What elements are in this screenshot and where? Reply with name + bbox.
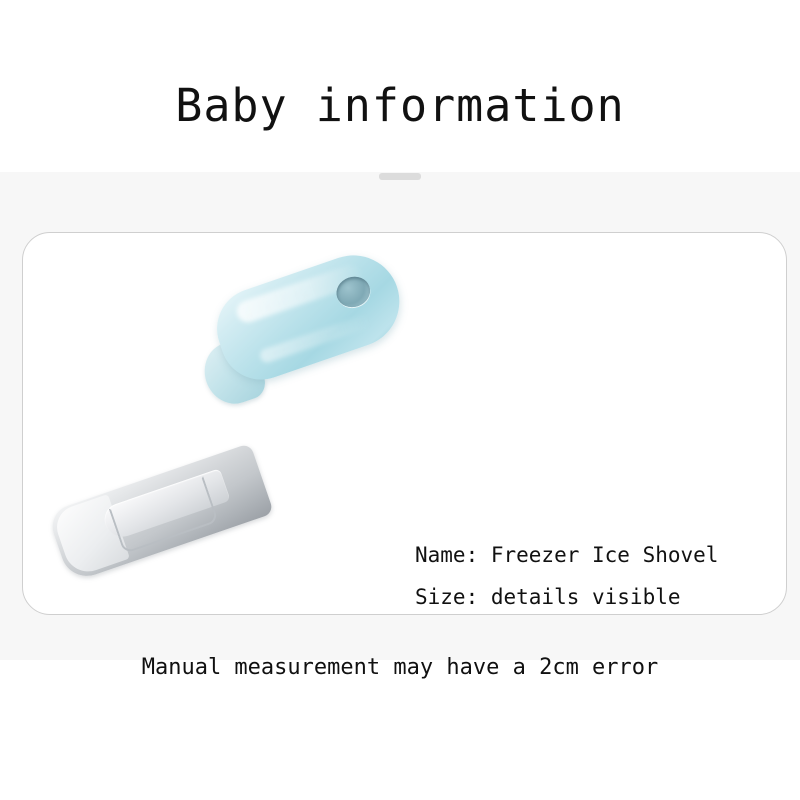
- measurement-disclaimer: Manual measurement may have a 2cm error: [0, 655, 800, 680]
- spec-line-name: Name: Freezer Ice Shovel: [415, 534, 787, 576]
- spec-line-size: Size: details visible: [415, 576, 787, 615]
- product-photo: [23, 263, 413, 603]
- product-info-page: Baby information 9cm 7cm 4.5cm: [0, 0, 800, 800]
- shovel-handle: [206, 243, 412, 391]
- title-zone: Baby information: [0, 0, 800, 172]
- spec-list: Name: Freezer Ice Shovel Size: details v…: [415, 534, 787, 615]
- handle-highlight-lower: [258, 313, 372, 364]
- info-card: 9cm 7cm 4.5cm Name: Freezer Ice Shovel S…: [22, 232, 787, 615]
- shovel-blade: [47, 443, 274, 583]
- drag-handle-bar-icon[interactable]: [379, 173, 421, 180]
- page-title: Baby information: [0, 80, 800, 132]
